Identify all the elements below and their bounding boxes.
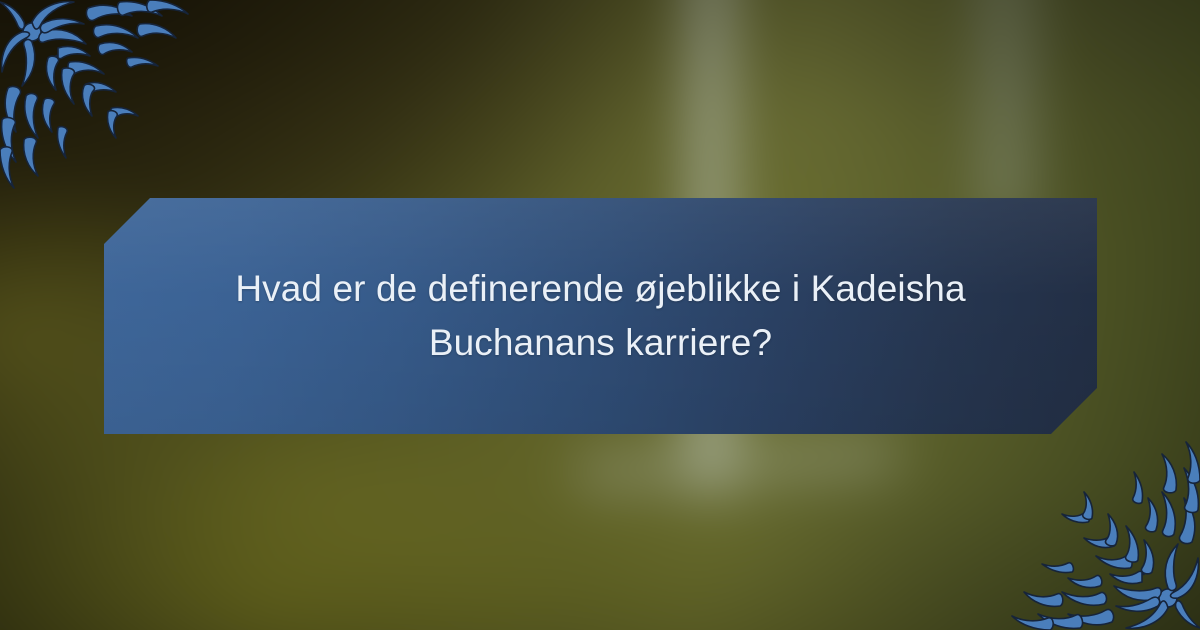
quote-card: Hvad er de definerende øjeblikke i Kadei… xyxy=(0,0,1200,630)
page-title: Hvad er de definerende øjeblikke i Kadei… xyxy=(171,262,1031,370)
headline-banner: Hvad er de definerende øjeblikke i Kadei… xyxy=(104,198,1097,434)
